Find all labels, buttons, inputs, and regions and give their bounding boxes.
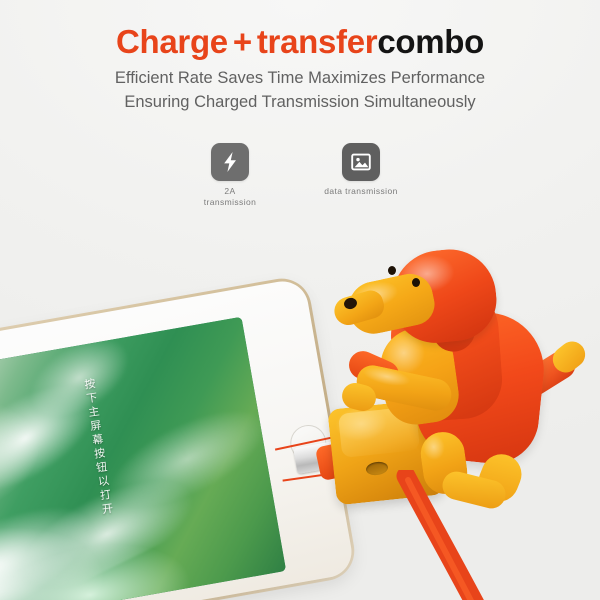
headline-part-charge: Charge (116, 23, 228, 60)
dog-eye-left (388, 266, 396, 275)
subtitle: Efficient Rate Saves Time Maximizes Perf… (0, 66, 600, 114)
feature-icon-row: 2A transmission data transmission (178, 143, 438, 215)
feature-data-label: data transmission (286, 186, 436, 197)
dog-eye-right (412, 278, 420, 287)
feature-data-transmission: data transmission (286, 143, 436, 197)
feature-2a-label-line-1: 2A (190, 186, 270, 197)
feature-2a-label-line-2: transmission (190, 197, 270, 208)
feature-data-label-line-1: data transmission (286, 186, 436, 197)
headline-part-transfer: transfer (257, 23, 377, 60)
subtitle-line-2: Ensuring Charged Transmission Simultaneo… (0, 90, 600, 114)
page-title: Charge+transfercombo (0, 20, 600, 64)
novelty-dog-figure (330, 232, 590, 522)
photo-image-icon (342, 143, 380, 181)
headline-part-combo: combo (377, 23, 484, 60)
feature-2a-transmission: 2A transmission (190, 143, 270, 208)
phone-screen: 按下主屏幕按钮以打开 (0, 317, 286, 600)
lightning-bolt-icon (211, 143, 249, 181)
headline-plus-sign: + (228, 23, 257, 60)
subtitle-line-1: Efficient Rate Saves Time Maximizes Perf… (0, 66, 600, 90)
feature-2a-label: 2A transmission (190, 186, 270, 208)
product-ad-image: Charge+transfercombo Efficient Rate Save… (0, 0, 600, 600)
